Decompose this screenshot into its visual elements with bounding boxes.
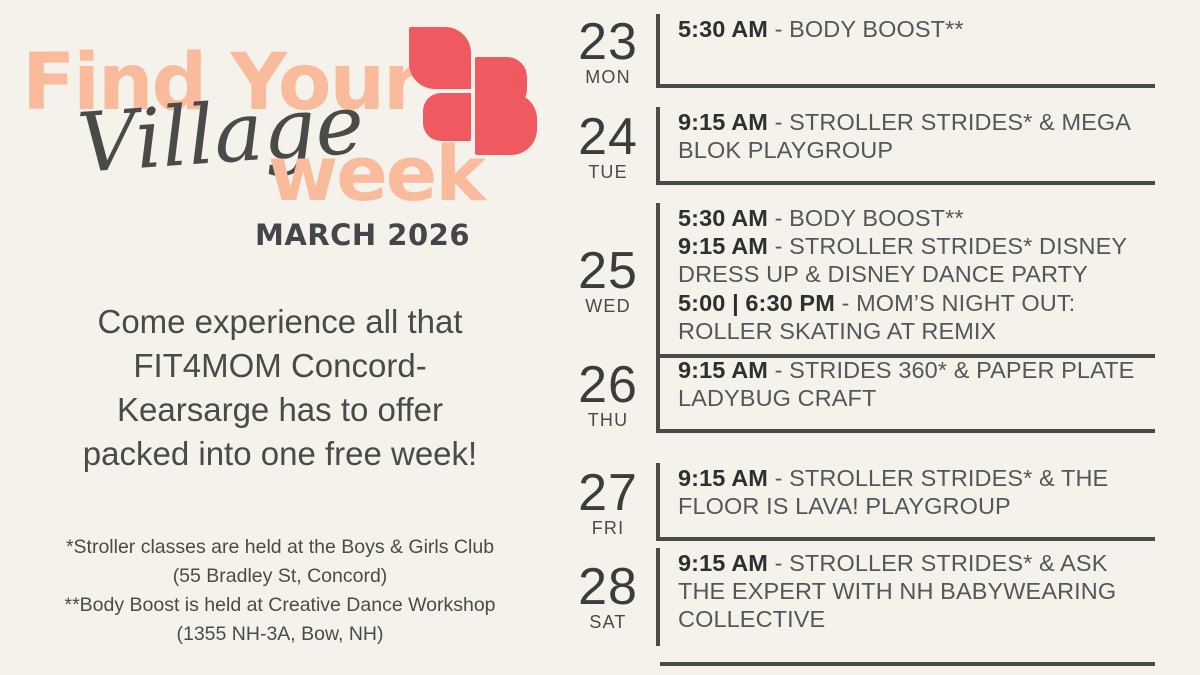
- schedule-row-sat: 28 SAT 9:15 AM - STROLLER STRIDES* & ASK…: [560, 548, 1155, 644]
- weekly-schedule: 23 MON 5:30 AM - BODY BOOST** 24 TUE 9:1…: [560, 0, 1200, 675]
- date-column: 26 THU: [560, 355, 656, 433]
- event-title: BODY BOOST**: [789, 16, 963, 42]
- schedule-row-sat-bottom-rule: [660, 662, 1155, 666]
- footnote-line: **Body Boost is held at Creative Dance W…: [30, 591, 530, 620]
- event-dash: -: [768, 109, 789, 135]
- date-column: 23 MON: [560, 14, 656, 88]
- brand-lockup: Find Your Village week MARCH 2026: [0, 0, 560, 280]
- event-item: 9:15 AM - STROLLER STRIDES* & MEGA BLOK …: [678, 108, 1155, 164]
- fit4mom-flower-icon: [409, 27, 534, 157]
- event-item: 9:15 AM - STROLLER STRIDES* & ASK THE EX…: [678, 549, 1155, 634]
- event-time: 5:00 | 6:30 PM: [678, 290, 835, 316]
- event-time: 9:15 AM: [678, 233, 768, 259]
- month-label: MARCH 2026: [255, 221, 470, 250]
- left-panel: Find Your Village week MARCH 2026 Come e…: [0, 0, 560, 675]
- event-time: 5:30 AM: [678, 16, 768, 42]
- date-number: 26: [560, 359, 656, 412]
- event-time: 5:30 AM: [678, 205, 768, 231]
- date-weekday: SAT: [560, 612, 656, 633]
- event-item: 5:30 AM - BODY BOOST**: [678, 204, 1155, 232]
- schedule-row-sat-vertical-rule: [656, 548, 660, 646]
- event-time: 9:15 AM: [678, 550, 768, 576]
- date-weekday: WED: [560, 296, 656, 317]
- events-column: 9:15 AM - STROLLER STRIDES* & ASK THE EX…: [656, 548, 1155, 644]
- event-dash: -: [768, 16, 789, 42]
- event-time: 9:15 AM: [678, 109, 768, 135]
- date-number: 25: [560, 245, 656, 298]
- footnote-line: (55 Bradley St, Concord): [30, 562, 530, 591]
- date-column: 27 FRI: [560, 463, 656, 541]
- date-number: 23: [560, 16, 656, 69]
- event-item: 5:30 AM - BODY BOOST**: [678, 15, 1155, 43]
- event-time: 9:15 AM: [678, 357, 768, 383]
- event-dash: -: [768, 357, 789, 383]
- schedule-row-thu: 26 THU 9:15 AM - STRIDES 360* & PAPER PL…: [560, 355, 1155, 433]
- flower-petal-top-left-icon: [409, 27, 471, 89]
- footnote-line: *Stroller classes are held at the Boys &…: [30, 533, 530, 562]
- blurb-line: Kearsarge has to offer: [40, 388, 520, 432]
- event-dash: -: [768, 550, 789, 576]
- date-number: 24: [560, 111, 656, 164]
- schedule-row-fri: 27 FRI 9:15 AM - STROLLER STRIDES* & THE…: [560, 463, 1155, 541]
- event-time: 9:15 AM: [678, 465, 768, 491]
- events-column: 9:15 AM - STRIDES 360* & PAPER PLATE LAD…: [656, 355, 1155, 433]
- flower-petal-bottom-right-icon: [475, 93, 537, 155]
- event-dash: -: [768, 465, 789, 491]
- event-dash: -: [768, 233, 789, 259]
- date-weekday: MON: [560, 67, 656, 88]
- blurb-line: Come experience all that: [40, 300, 520, 344]
- event-dash: -: [835, 290, 856, 316]
- event-item: 5:00 | 6:30 PM - MOM’S NIGHT OUT: ROLLER…: [678, 289, 1155, 345]
- footnotes: *Stroller classes are held at the Boys &…: [30, 533, 530, 648]
- events-column: 9:15 AM - STROLLER STRIDES* & THE FLOOR …: [656, 463, 1155, 541]
- date-number: 27: [560, 467, 656, 520]
- event-title: BODY BOOST**: [789, 205, 963, 231]
- event-item: 9:15 AM - STROLLER STRIDES* & THE FLOOR …: [678, 464, 1155, 520]
- intro-blurb: Come experience all that FIT4MOM Concord…: [40, 300, 520, 476]
- events-column: 5:30 AM - BODY BOOST** 9:15 AM - STROLLE…: [656, 203, 1155, 358]
- date-weekday: THU: [560, 410, 656, 431]
- date-column: 25 WED: [560, 203, 656, 358]
- date-column: 28 SAT: [560, 548, 656, 644]
- events-column: 9:15 AM - STROLLER STRIDES* & MEGA BLOK …: [656, 107, 1155, 185]
- promo-poster: Find Your Village week MARCH 2026 Come e…: [0, 0, 1200, 675]
- date-weekday: FRI: [560, 518, 656, 539]
- schedule-row-wed: 25 WED 5:30 AM - BODY BOOST** 9:15 AM - …: [560, 203, 1155, 358]
- schedule-row-mon: 23 MON 5:30 AM - BODY BOOST**: [560, 14, 1155, 88]
- event-dash: -: [768, 205, 789, 231]
- date-column: 24 TUE: [560, 107, 656, 185]
- schedule-row-tue: 24 TUE 9:15 AM - STROLLER STRIDES* & MEG…: [560, 107, 1155, 185]
- blurb-line: FIT4MOM Concord-: [40, 344, 520, 388]
- event-item: 9:15 AM - STROLLER STRIDES* DISNEY DRESS…: [678, 232, 1155, 288]
- blurb-line: packed into one free week!: [40, 432, 520, 476]
- flower-petal-bottom-left-icon: [423, 93, 471, 141]
- date-number: 28: [560, 561, 656, 614]
- events-column: 5:30 AM - BODY BOOST**: [656, 14, 1155, 88]
- footnote-line: (1355 NH-3A, Bow, NH): [30, 620, 530, 649]
- date-weekday: TUE: [560, 162, 656, 183]
- event-item: 9:15 AM - STRIDES 360* & PAPER PLATE LAD…: [678, 356, 1155, 412]
